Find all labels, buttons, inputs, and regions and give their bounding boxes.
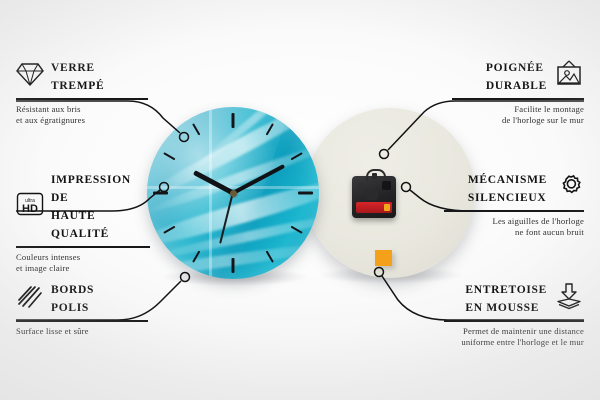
feature-description: Surface lisse et sûre	[16, 326, 148, 337]
feature-title-line1: BORDS	[51, 284, 94, 296]
feature-desc-line1: Couleurs intenses	[16, 252, 80, 262]
feature-title-line1: IMPRESSION DE	[51, 174, 131, 204]
feature-header: BORDS POLIS	[16, 280, 148, 316]
mechanism-detail	[366, 191, 378, 200]
feature-description: Couleurs intenses et image claire	[16, 252, 150, 274]
ultra-hd-icon: ultra HD	[16, 191, 44, 222]
feature-header: ultra HD IMPRESSION DE HAUTE QUALITÉ	[16, 170, 150, 242]
mechanism-spindle	[372, 173, 377, 179]
feature-header: ENTRETOISE EN MOUSSE	[444, 280, 584, 316]
clock-tick	[232, 113, 235, 128]
clock-tick	[192, 123, 200, 135]
feature-verre-trempe: VERRE TREMPÉ Résistant aux bris et aux é…	[16, 58, 148, 126]
divider	[16, 246, 150, 248]
clock-tick	[163, 152, 175, 160]
feature-title: BORDS POLIS	[51, 280, 94, 316]
feature-title-line2: DURABLE	[486, 80, 547, 92]
feature-description: Facilite le montage de l'horloge sur le …	[452, 104, 584, 126]
foam-spacer-icon	[554, 282, 584, 315]
battery	[356, 202, 392, 213]
feature-title-line2: TREMPÉ	[51, 80, 104, 92]
feature-title: VERRE TREMPÉ	[51, 58, 104, 94]
glass-reflection-line	[209, 107, 212, 279]
feature-desc-line2: uniforme entre l'horloge et le mur	[461, 337, 584, 347]
feature-title-line1: MÉCANISME	[468, 174, 547, 186]
feature-desc-line1: Permet de maintenir une distance	[463, 326, 584, 336]
feature-title-line2: SILENCIEUX	[468, 192, 547, 204]
svg-text:HD: HD	[22, 203, 38, 215]
feature-title-line2: POLIS	[51, 302, 89, 314]
polished-edges-icon	[16, 283, 44, 314]
feature-impression-haute-qualite: ultra HD IMPRESSION DE HAUTE QUALITÉ Cou…	[16, 170, 150, 274]
feature-entretoise-en-mousse: ENTRETOISE EN MOUSSE Permet de maintenir…	[444, 280, 584, 348]
feature-title-line2: EN MOUSSE	[465, 302, 539, 314]
feature-description: Permet de maintenir une distance uniform…	[444, 326, 584, 348]
glass-reflection-line	[147, 186, 319, 189]
clock-tick	[153, 192, 168, 195]
feature-title: MÉCANISME SILENCIEUX	[468, 170, 547, 206]
clock-front-photo	[147, 107, 319, 279]
divider	[16, 98, 148, 100]
feature-desc-line2: et aux égratignures	[16, 115, 85, 125]
clock-tick	[298, 192, 313, 195]
feature-header: VERRE TREMPÉ	[16, 58, 148, 94]
mechanism-detail	[358, 182, 365, 189]
divider	[452, 98, 584, 100]
mechanism-detail	[382, 181, 391, 190]
feature-poignee-durable: POIGNÉE DURABLE Facilite le montage de l…	[452, 58, 584, 126]
feature-title: IMPRESSION DE HAUTE QUALITÉ	[51, 170, 150, 242]
feature-description: Les aiguilles de l'horloge ne font aucun…	[444, 216, 584, 238]
feature-title-line2: HAUTE QUALITÉ	[51, 210, 109, 240]
feature-title-line1: ENTRETOISE	[465, 284, 547, 296]
feature-title: ENTRETOISE EN MOUSSE	[465, 280, 547, 316]
infographic-canvas: VERRE TREMPÉ Résistant aux bris et aux é…	[0, 0, 600, 400]
divider	[444, 210, 584, 212]
clock-mechanism	[352, 176, 396, 218]
feature-desc-line1: Résistant aux bris	[16, 104, 81, 114]
feature-desc-line1: Facilite le montage	[514, 104, 584, 114]
clock-tick	[232, 258, 235, 273]
feature-bords-polis: BORDS POLIS Surface lisse et sûre	[16, 280, 148, 337]
feature-description: Résistant aux bris et aux égratignures	[16, 104, 148, 126]
feature-desc-line2: et image claire	[16, 263, 70, 273]
feature-desc-line2: ne font aucun bruit	[515, 227, 584, 237]
divider	[444, 320, 584, 322]
clock-center-hub	[230, 190, 237, 197]
feature-header: MÉCANISME SILENCIEUX	[444, 170, 584, 206]
feature-title-line1: POIGNÉE	[486, 62, 544, 74]
feature-header: POIGNÉE DURABLE	[452, 58, 584, 94]
feature-desc-line1: Les aiguilles de l'horloge	[493, 216, 584, 226]
feature-mecanisme-silencieux: MÉCANISME SILENCIEUX Les aiguilles de l'…	[444, 170, 584, 238]
foam-spacer	[375, 250, 392, 266]
feature-desc-line1: Surface lisse et sûre	[16, 326, 89, 336]
diamond-icon	[16, 61, 44, 92]
feature-title-line1: VERRE	[51, 62, 95, 74]
hanging-frame-icon	[554, 60, 584, 93]
divider	[16, 320, 148, 322]
feature-title: POIGNÉE DURABLE	[486, 58, 547, 94]
gear-icon	[554, 172, 584, 205]
feature-desc-line2: de l'horloge sur le mur	[502, 115, 584, 125]
